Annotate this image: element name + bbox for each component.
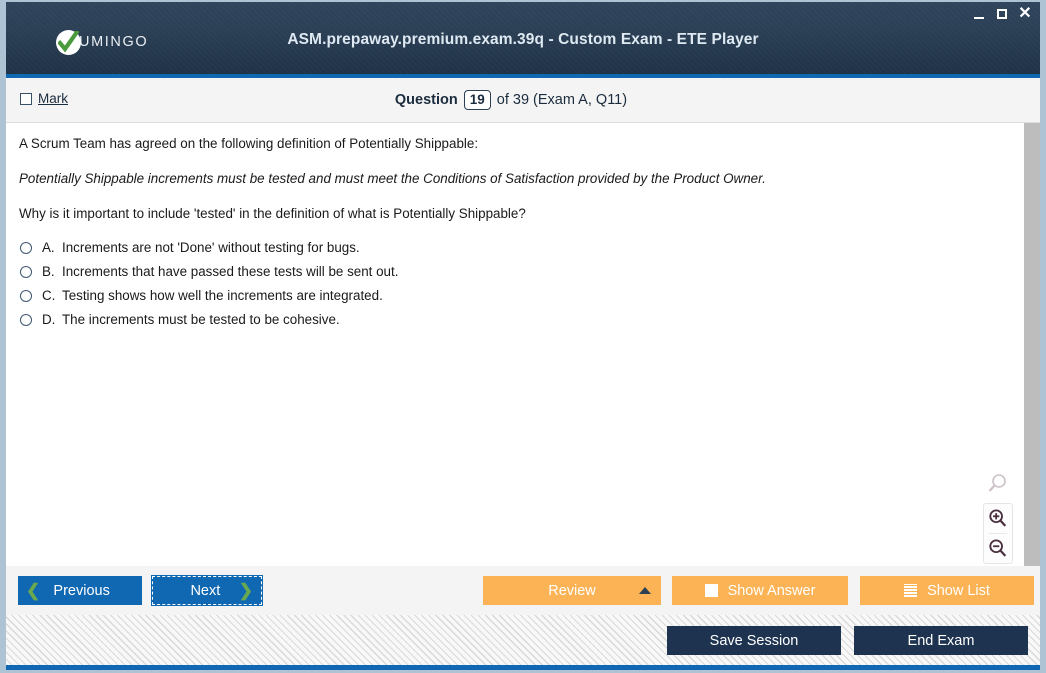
save-session-button[interactable]: Save Session bbox=[667, 626, 841, 655]
magnifier-minus-icon[interactable] bbox=[984, 534, 1012, 563]
answer-option-d[interactable]: D. The increments must be tested to be c… bbox=[19, 312, 999, 328]
answer-option-c[interactable]: C. Testing shows how well the increments… bbox=[19, 288, 999, 304]
option-text-b: Increments that have passed these tests … bbox=[62, 264, 999, 280]
option-letter-c: C. bbox=[42, 288, 62, 304]
list-square-icon bbox=[904, 584, 917, 597]
question-counter: Question 19 of 39 (Exam A, Q11) bbox=[6, 90, 1016, 110]
next-button[interactable]: Next ❯ bbox=[152, 576, 262, 605]
option-text-c: Testing shows how well the increments ar… bbox=[62, 288, 999, 304]
option-text-d: The increments must be tested to be cohe… bbox=[62, 312, 999, 328]
option-letter-b: B. bbox=[42, 264, 62, 280]
content-scrollbar[interactable] bbox=[1024, 123, 1040, 566]
end-exam-button[interactable]: End Exam bbox=[854, 626, 1028, 655]
review-button-label: Review bbox=[505, 583, 639, 599]
radio-icon-b[interactable] bbox=[20, 266, 32, 278]
review-dropdown-button[interactable]: Review bbox=[483, 576, 661, 605]
magnifier-icon[interactable] bbox=[983, 472, 1013, 501]
show-list-button[interactable]: Show List bbox=[860, 576, 1034, 605]
previous-button-label: Previous bbox=[40, 583, 123, 599]
end-exam-button-label: End Exam bbox=[908, 633, 975, 649]
question-body: A Scrum Team has agreed on the following… bbox=[19, 135, 999, 336]
title-bar[interactable]: UMINGO ASM.prepaway.premium.exam.39q - C… bbox=[6, 2, 1040, 74]
action-bar: ❮ Previous Next ❯ Review Show Answer Sho… bbox=[6, 566, 1040, 615]
previous-button[interactable]: ❮ Previous bbox=[18, 576, 142, 605]
question-content-pane: A Scrum Team has agreed on the following… bbox=[6, 123, 1040, 566]
option-text-a: Increments are not 'Done' without testin… bbox=[62, 240, 999, 256]
show-answer-button[interactable]: Show Answer bbox=[672, 576, 848, 605]
option-letter-a: A. bbox=[42, 240, 62, 256]
footer-accent-line bbox=[6, 665, 1040, 670]
question-number-input[interactable]: 19 bbox=[464, 90, 491, 110]
question-intro-text: A Scrum Team has agreed on the following… bbox=[19, 135, 999, 152]
answer-option-a[interactable]: A. Increments are not 'Done' without tes… bbox=[19, 240, 999, 256]
question-prompt-text: Why is it important to include 'tested' … bbox=[19, 205, 999, 222]
question-total-label: of 39 (Exam A, Q11) bbox=[497, 92, 627, 108]
close-icon[interactable]: ✕ bbox=[1018, 6, 1032, 22]
maximize-icon[interactable] bbox=[995, 6, 1009, 22]
exam-player-window: UMINGO ASM.prepaway.premium.exam.39q - C… bbox=[0, 0, 1046, 673]
question-header-bar: Mark Question 19 of 39 (Exam A, Q11) bbox=[6, 78, 1040, 123]
show-list-button-label: Show List bbox=[927, 583, 990, 599]
minimize-icon[interactable] bbox=[972, 6, 986, 22]
radio-icon-c[interactable] bbox=[20, 290, 32, 302]
window-title: ASM.prepaway.premium.exam.39q - Custom E… bbox=[6, 31, 1040, 49]
window-controls: ✕ bbox=[972, 6, 1032, 22]
option-letter-d: D. bbox=[42, 312, 62, 328]
chevron-up-icon bbox=[639, 587, 651, 594]
show-answer-button-label: Show Answer bbox=[728, 583, 816, 599]
question-definition-text: Potentially Shippable increments must be… bbox=[19, 170, 999, 187]
save-session-button-label: Save Session bbox=[710, 633, 799, 649]
zoom-button-stack bbox=[983, 503, 1013, 564]
radio-icon-d[interactable] bbox=[20, 314, 32, 326]
chevron-left-icon: ❮ bbox=[26, 582, 40, 599]
zoom-controls bbox=[983, 472, 1013, 564]
chevron-right-icon: ❯ bbox=[239, 582, 253, 599]
magnifier-plus-icon[interactable] bbox=[984, 504, 1012, 533]
next-button-label: Next bbox=[172, 583, 239, 599]
answer-option-b[interactable]: B. Increments that have passed these tes… bbox=[19, 264, 999, 280]
answer-options-list: A. Increments are not 'Done' without tes… bbox=[19, 240, 999, 328]
footer-bar: Save Session End Exam bbox=[6, 615, 1040, 667]
square-icon bbox=[705, 584, 718, 597]
question-word-label: Question bbox=[395, 92, 458, 108]
radio-icon-a[interactable] bbox=[20, 242, 32, 254]
